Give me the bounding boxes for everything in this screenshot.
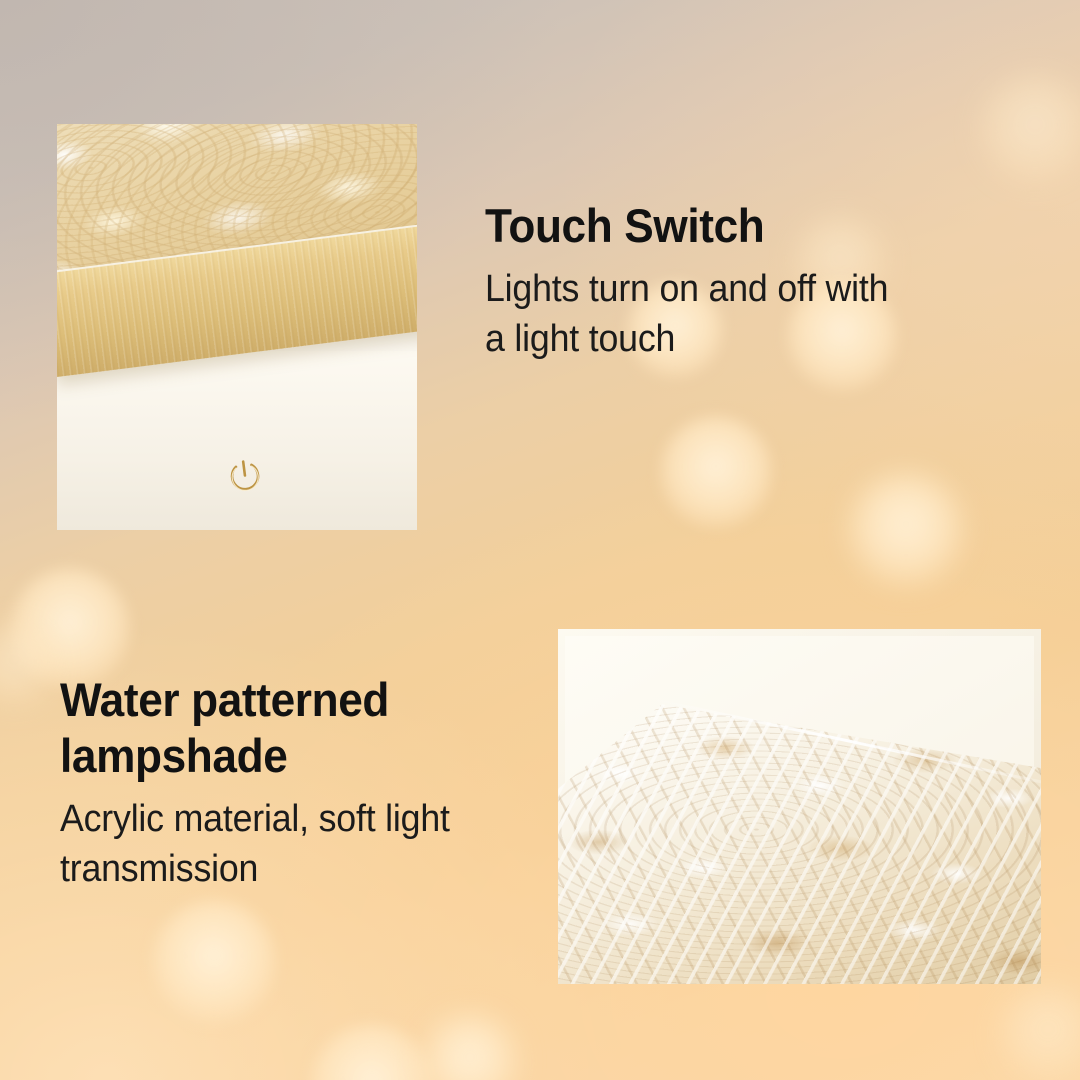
lamp-base-touch-switch-photo [57,124,417,530]
crystal-block [558,704,1041,984]
feature-subline: Acrylic material, soft light transmissio… [60,794,530,894]
bokeh-light-4 [660,416,772,528]
feature-subline: Lights turn on and off with a light touc… [485,264,974,364]
feature-headline: Touch Switch [485,198,974,254]
power-icon [222,453,269,500]
product-feature-graphic: Touch Switch Lights turn on and off with… [0,0,1080,1080]
table-surface [57,351,417,530]
bokeh-light-5 [848,472,964,588]
acrylic-lampshade-photo [558,629,1041,984]
photo-inner-backdrop [565,636,1034,977]
bokeh-light-8 [152,900,276,1024]
feature-lampshade-text: Water patterned lampshade Acrylic materi… [60,672,560,894]
bokeh-light-0 [979,74,1080,186]
feature-touch-switch-text: Touch Switch Lights turn on and off with… [485,198,1005,364]
feature-headline: Water patterned lampshade [60,672,530,784]
